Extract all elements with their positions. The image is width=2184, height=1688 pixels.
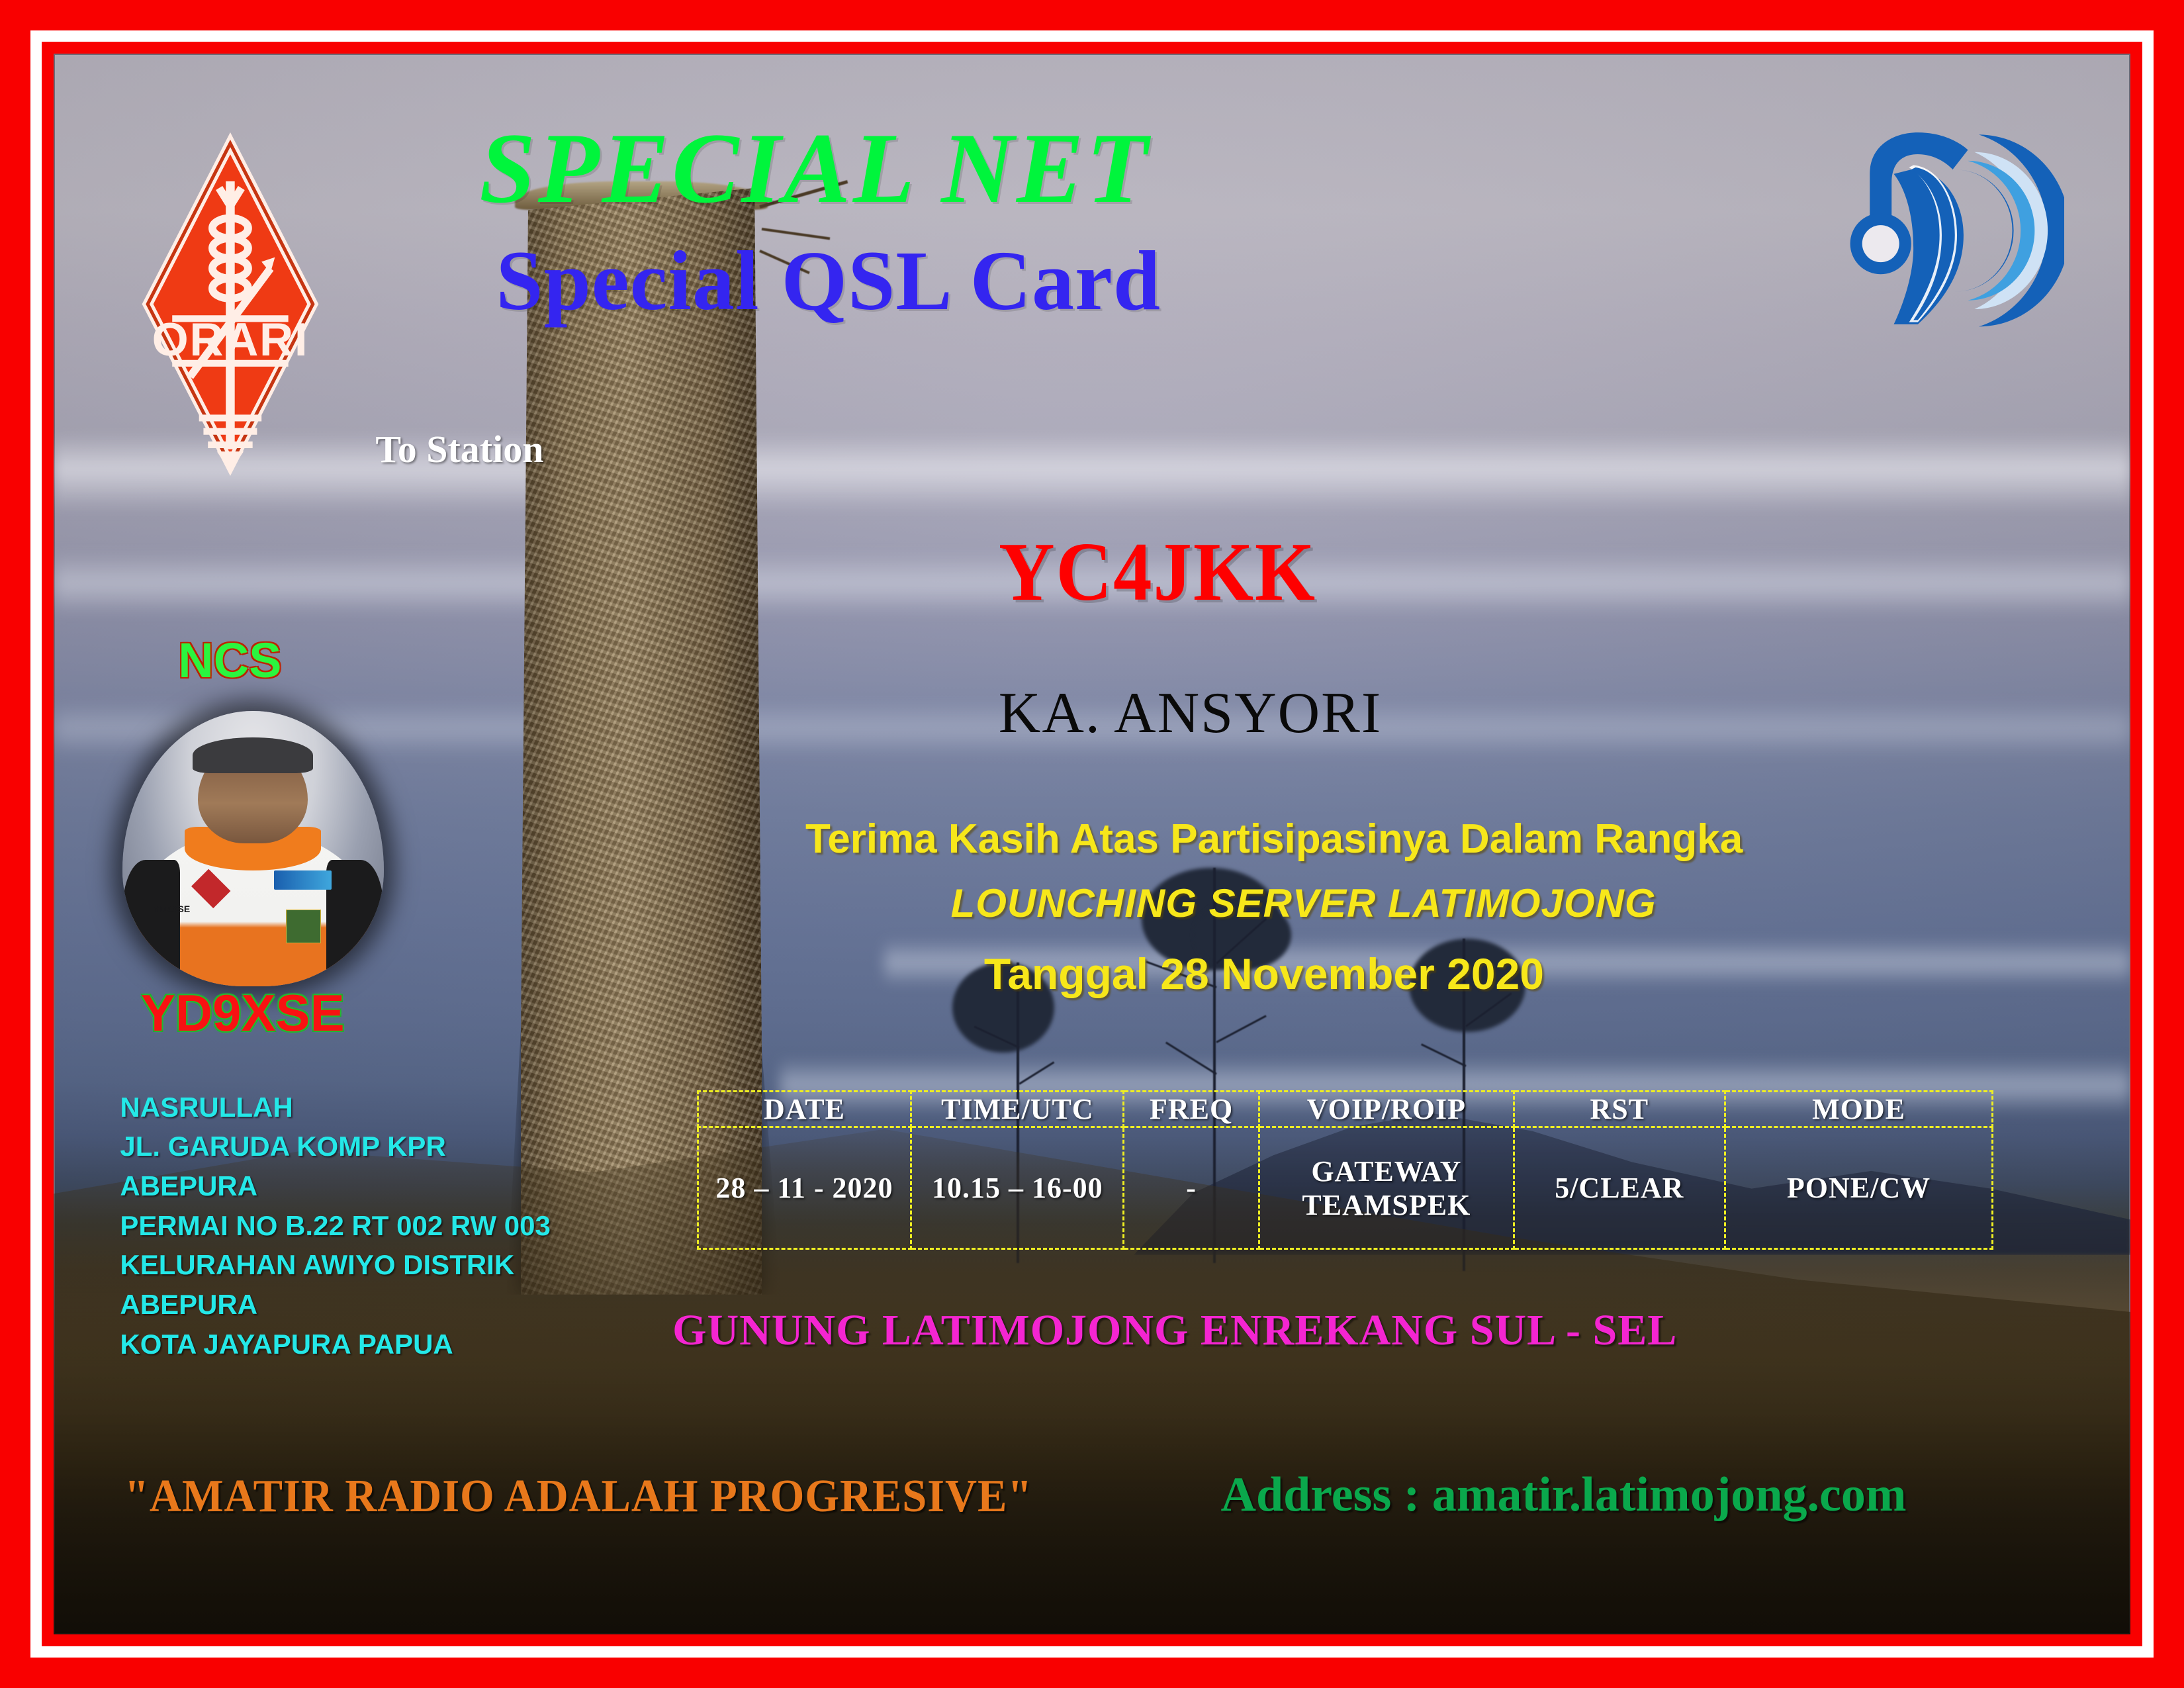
column-header-date: DATE (698, 1091, 911, 1127)
event-date: Tanggal 28 November 2020 (984, 949, 1544, 999)
subtitle: Special QSL Card (496, 232, 1161, 330)
ncs-operator-photo: YD9XSE (122, 711, 384, 986)
cell-freq: - (1124, 1127, 1259, 1249)
footer-web-address: Address : amatir.latimojong.com (1221, 1467, 1907, 1523)
column-header-voip: VOIP/ROIP (1259, 1091, 1514, 1127)
photo-id-card (286, 910, 321, 944)
operator-name: KA. ANSYORI (999, 680, 1382, 747)
to-station-label: To Station (375, 427, 543, 471)
photo-sleeve-left (122, 860, 180, 986)
page-title: SPECIAL NET (479, 111, 1150, 226)
event-name: LOUNCHING SERVER LATIMOJONG (951, 880, 1657, 926)
photo-hair (193, 737, 313, 773)
station-callsign: YC4JKK (999, 525, 1316, 620)
photo-chest-patch (274, 870, 332, 890)
background-photo: ORARI (54, 54, 2130, 1634)
address-line: ABEPURA (120, 1166, 550, 1206)
table-row: 28 – 11 - 2020 10.15 – 16-00 - GATEWAY T… (698, 1127, 1993, 1249)
qsl-card: ORARI (0, 0, 2184, 1688)
cell-rst: 5/CLEAR (1514, 1127, 1725, 1249)
footer-slogan: "AMATIR RADIO ADALAH PROGRESIVE" (124, 1470, 1032, 1523)
thanks-message: Terima Kasih Atas Partisipasinya Dalam R… (805, 816, 1743, 863)
column-header-rst: RST (1514, 1091, 1725, 1127)
cell-voip: GATEWAY TEAMSPEK (1259, 1127, 1514, 1249)
photo-callsign-patch: YD9XSE (154, 904, 190, 914)
cell-voip-line1: GATEWAY (1260, 1154, 1513, 1188)
address-line: KOTA JAYAPURA PAPUA (120, 1325, 550, 1364)
ncs-label: NCS (178, 632, 281, 688)
column-header-freq: FREQ (1124, 1091, 1259, 1127)
column-header-time: TIME/UTC (911, 1091, 1124, 1127)
column-header-mode: MODE (1725, 1091, 1992, 1127)
photo-sleeve-right (326, 860, 384, 986)
card-white-frame: ORARI (30, 30, 2154, 1658)
address-line: ABEPURA (120, 1285, 550, 1325)
cell-mode: PONE/CW (1725, 1127, 1992, 1249)
cell-date: 28 – 11 - 2020 (698, 1127, 911, 1249)
ncs-callsign: YD9XSE (141, 983, 345, 1043)
address-line: KELURAHAN AWIYO DISTRIK (120, 1245, 550, 1285)
address-line: NASRULLAH (120, 1088, 550, 1127)
address-line: PERMAI NO B.22 RT 002 RW 003 (120, 1206, 550, 1246)
location-line: GUNUNG LATIMOJONG ENREKANG SUL - SEL (672, 1305, 1677, 1356)
card-inner-red-frame: ORARI (42, 42, 2142, 1646)
cell-voip-line2: TEAMSPEK (1260, 1188, 1513, 1222)
address-line: JL. GARUDA KOMP KPR (120, 1127, 550, 1166)
address-block: NASRULLAH JL. GARUDA KOMP KPR ABEPURA PE… (120, 1088, 550, 1364)
cell-time: 10.15 – 16-00 (911, 1127, 1124, 1249)
table-header-row: DATE TIME/UTC FREQ VOIP/ROIP RST MODE (698, 1091, 1993, 1127)
qso-log-table: DATE TIME/UTC FREQ VOIP/ROIP RST MODE 28… (697, 1090, 1994, 1250)
